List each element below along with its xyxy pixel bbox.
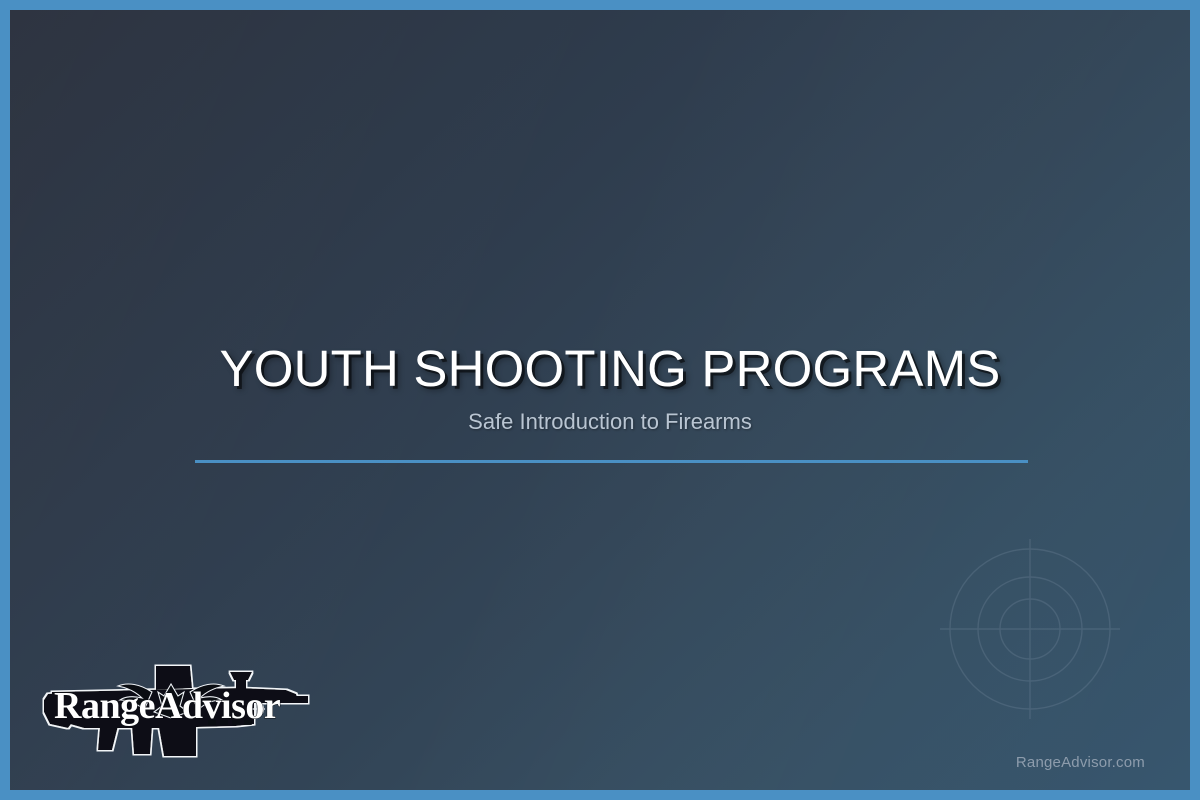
presentation-slide: YOUTH SHOOTING PROGRAMS Safe Introductio… [0, 0, 1200, 800]
title-block: YOUTH SHOOTING PROGRAMS Safe Introductio… [10, 340, 1200, 436]
page-subtitle: Safe Introduction to Firearms [10, 409, 1200, 435]
title-divider-rule [195, 460, 1028, 463]
logo-wordmark: RangeAdvisor [54, 685, 281, 727]
crosshair-target-icon [938, 537, 1122, 721]
brand-logo: RangeAdvisor [40, 662, 312, 758]
footer-url: RangeAdvisor.com [1016, 754, 1145, 771]
page-title: YOUTH SHOOTING PROGRAMS [10, 340, 1200, 397]
